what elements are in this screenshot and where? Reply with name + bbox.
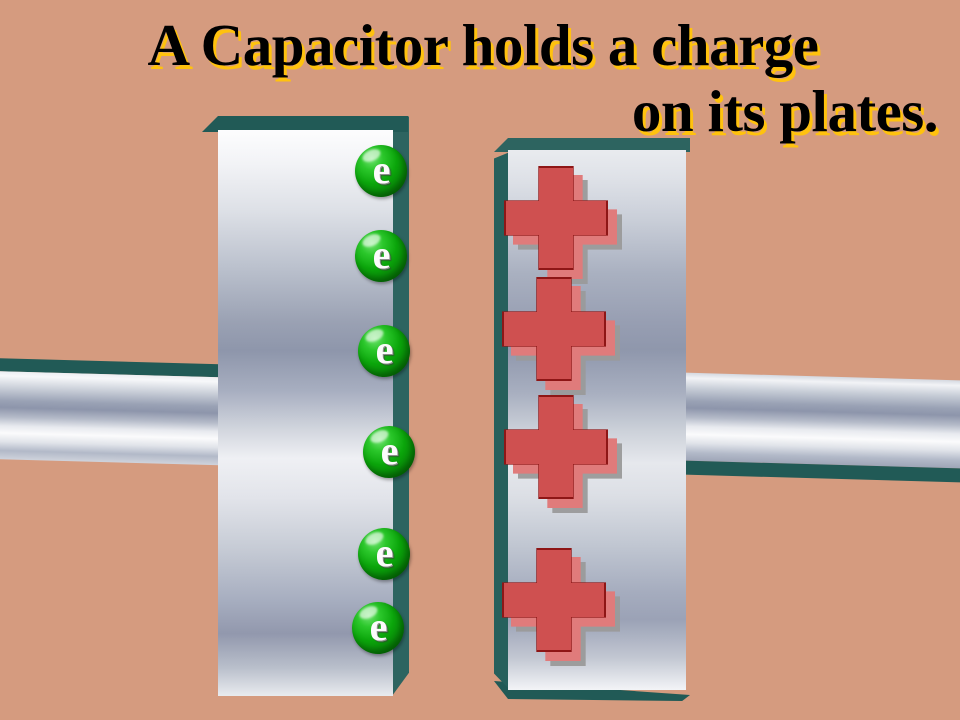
- electron-charge-icon: e: [358, 325, 410, 377]
- electron-charge-icon: e: [355, 145, 407, 197]
- electron-charge-icon: e: [358, 528, 410, 580]
- electron-label: e: [373, 150, 391, 190]
- left-wire-geometry: [0, 358, 220, 474]
- positive-charge-fill: [504, 550, 604, 650]
- positive-charge-icon: [502, 277, 606, 381]
- slide-title: A Capacitor holds a charge on its plates…: [0, 12, 960, 144]
- positive-charge-icon: [504, 395, 608, 499]
- slide-canvas: eeeeee A Capacitor holds a charge on its…: [0, 0, 960, 720]
- positive-charge-icon: [504, 166, 608, 270]
- electron-label: e: [381, 431, 399, 471]
- electron-charge-icon: e: [363, 426, 415, 478]
- electron-label: e: [370, 607, 388, 647]
- positive-charge-fill: [506, 397, 606, 497]
- left-wire-body: [0, 371, 220, 465]
- title-line-1: A Capacitor holds a charge: [0, 12, 960, 78]
- positive-charge-fill: [506, 168, 606, 268]
- title-line-2: on its plates.: [0, 78, 960, 144]
- electron-label: e: [373, 235, 391, 275]
- positive-charge-icon: [502, 548, 606, 652]
- electron-charge-icon: e: [352, 602, 404, 654]
- electron-label: e: [376, 533, 394, 573]
- positive-charge-fill: [504, 279, 604, 379]
- electron-charge-icon: e: [355, 230, 407, 282]
- electron-label: e: [376, 330, 394, 370]
- left-terminal-wire: [0, 358, 220, 474]
